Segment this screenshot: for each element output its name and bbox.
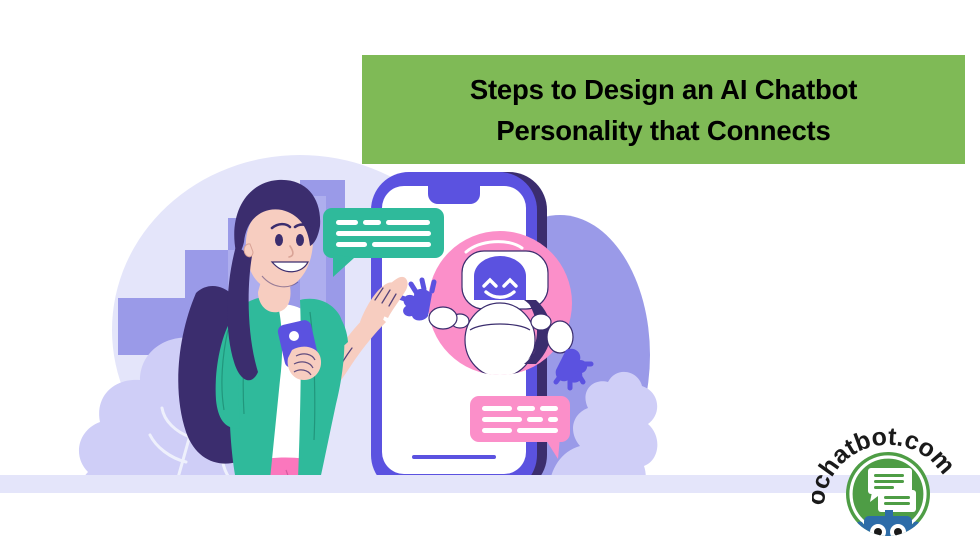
- title-line-1: Steps to Design an AI Chatbot: [470, 69, 857, 110]
- ochatbot-logo[interactable]: ochatbot.com: [812, 418, 964, 544]
- slide-canvas: Steps to Design an AI Chatbot Personalit…: [0, 0, 980, 551]
- title-line-2: Personality that Connects: [496, 110, 830, 151]
- title-banner: Steps to Design an AI Chatbot Personalit…: [362, 55, 965, 164]
